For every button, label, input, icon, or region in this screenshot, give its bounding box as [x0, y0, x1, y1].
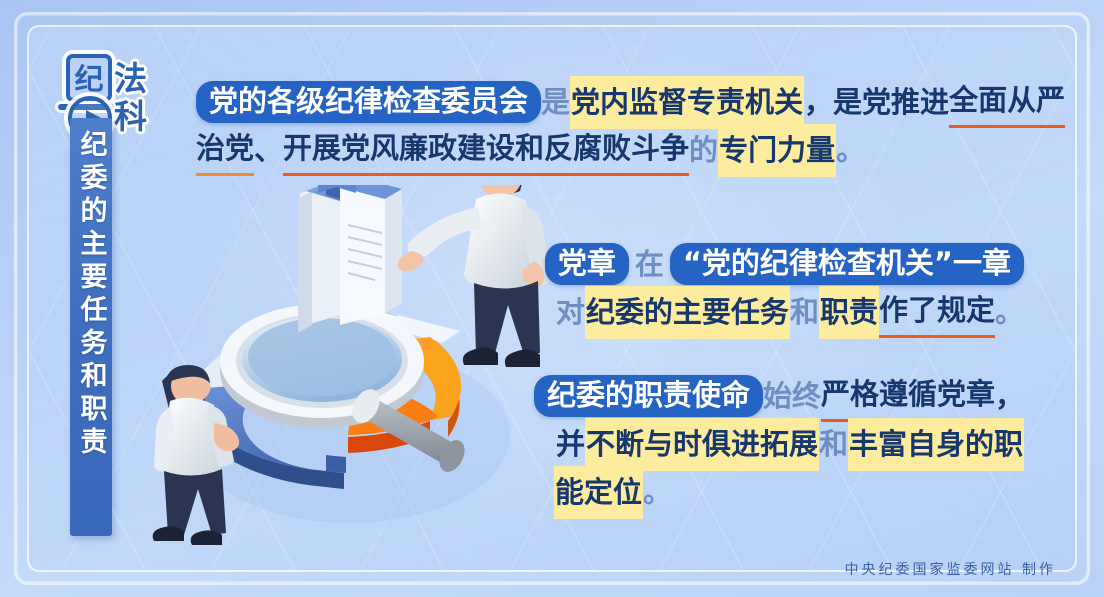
- highlight-p3-l2-a: 不断与时俱进拓展: [585, 418, 819, 471]
- highlight-p1-l1: 党内监督专责机关: [570, 76, 804, 129]
- highlight-p2-l2-b: 职责: [819, 286, 879, 339]
- pill-p2-l1-b: “党的纪律检查机关”一章: [670, 243, 1024, 285]
- paragraph-1-line-1: 党的各级纪律检查委员会是党内监督专责机关，是党推进全面从严: [196, 78, 1065, 126]
- text-p2-l1-plain: 在: [629, 240, 670, 288]
- logo-char-ji: 纪: [74, 56, 103, 98]
- paragraph-3: 纪委的职责使命始终严格遵循党章， 并不断与时俱进拓展和丰富自身的职 能定位。: [554, 372, 1024, 516]
- pill-p2-l1-a: 党章: [545, 243, 629, 285]
- text-p3-l2-plain2: 和: [819, 420, 848, 468]
- text-p2-l2-plain2: 和: [790, 288, 819, 336]
- paragraph-3-line-2: 并不断与时俱进拓展和丰富自身的职: [554, 420, 1024, 468]
- paragraph-1-line-2: 治党、开展党风廉政建设和反腐败斗争的专门力量。: [196, 126, 1065, 174]
- paragraph-2: 党章在“党的纪律检查机关”一章 对纪委的主要任务和职责作了规定。: [554, 240, 1024, 336]
- text-p3-l1-plain: 始终: [763, 372, 821, 420]
- logo-char-fa: 法: [114, 62, 147, 95]
- pill-p3-l1: 纪委的职责使命: [534, 375, 763, 417]
- text-p2-l2-period: 。: [995, 288, 1024, 336]
- text-p1-l2-period: 。: [836, 126, 865, 174]
- paragraph-3-line-3: 能定位。: [554, 468, 1024, 516]
- pill-p1-l1: 党的各级纪律检查委员会: [196, 81, 541, 123]
- highlight-p3-l2-b: 丰富自身的职: [848, 418, 1024, 471]
- text-p3-l2-plain1: 并: [556, 420, 585, 468]
- underline-p1-l2-b: 开展党风廉政建设和反腐败斗争: [283, 124, 689, 176]
- vertical-title-text: 纪委的主要任务和职责: [72, 130, 111, 460]
- underline-p1-l2-a: 治党: [196, 124, 254, 176]
- text-p3-l3-period: 。: [643, 468, 672, 516]
- paragraph-2-line-2: 对纪委的主要任务和职责作了规定。: [554, 288, 1024, 336]
- underline-p2-l2: 作了规定: [879, 286, 995, 338]
- text-p1-l1-plain2: ，是党推进: [804, 78, 949, 126]
- text-p1-l2-de: 的: [689, 126, 718, 174]
- footer-credit: 中央纪委国家监委网站 制作: [845, 559, 1056, 579]
- highlight-p2-l2-a: 纪委的主要任务: [585, 286, 790, 339]
- logo-boxed-char: 纪: [66, 54, 112, 102]
- vertical-title-banner: 纪委的主要任务和职责: [70, 118, 112, 536]
- highlight-p3-l3: 能定位: [554, 466, 643, 519]
- text-p1-l1-plain1: 是: [541, 78, 570, 126]
- underline-p1-l1: 全面从严: [949, 76, 1065, 128]
- paragraph-3-line-1: 纪委的职责使命始终严格遵循党章，: [554, 372, 1024, 420]
- text-p1-l2-sep: 、: [254, 126, 283, 174]
- poster-canvas: 纪 法 科 纪委的主要任务和职责: [0, 0, 1104, 597]
- underline-p3-l1: 严格遵循党章: [821, 370, 995, 422]
- isometric-illustration: [130, 185, 560, 555]
- paragraph-1: 党的各级纪律检查委员会是党内监督专责机关，是党推进全面从严 治党、开展党风廉政建…: [196, 78, 1065, 174]
- highlight-p1-l2: 专门力量: [718, 124, 836, 177]
- logo-char-ke: 科: [114, 100, 147, 133]
- paragraph-2-line-1: 党章在“党的纪律检查机关”一章: [554, 240, 1024, 288]
- text-p3-l1-comma: ，: [995, 372, 1024, 420]
- text-p2-l2-plain1: 对: [556, 288, 585, 336]
